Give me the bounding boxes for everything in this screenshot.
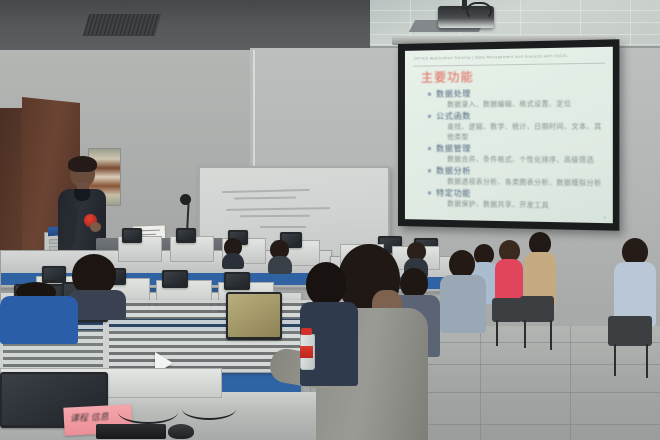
presenter-collar bbox=[74, 189, 90, 201]
lab-monitor bbox=[42, 266, 66, 283]
desk-cable bbox=[182, 398, 236, 420]
lab-monitor bbox=[176, 228, 196, 243]
bullet-heading: 数据管理 bbox=[427, 143, 604, 155]
attendee bbox=[524, 232, 556, 306]
attendee bbox=[0, 282, 72, 342]
classroom-photo: OFFICE Application Training | Data Manag… bbox=[0, 0, 660, 440]
bullet-subtext: 数据录入、数据编辑、格式设置、定位 bbox=[427, 98, 604, 110]
bullet-heading: 公式函数 bbox=[427, 110, 604, 122]
slide-page-number: 6 bbox=[604, 216, 606, 220]
foreground-monitor-lit bbox=[226, 292, 282, 340]
water-bottle-cap bbox=[301, 328, 312, 335]
attendee bbox=[440, 250, 484, 330]
slide-bullet-item: 特定功能 数据保护、数据共享、开发工具 bbox=[427, 187, 604, 211]
bullet-subtext: 数据合并、条件格式、个性化排序、高级筛选 bbox=[427, 154, 604, 165]
slide-bullet-item: 数据处理 数据录入、数据编辑、格式设置、定位 bbox=[427, 87, 604, 110]
bullet-subtext: 数据透视表分析、各类图表分析、数据模拟分析 bbox=[427, 176, 604, 188]
water-bottle-label bbox=[300, 346, 313, 358]
slide-title: 主要功能 bbox=[421, 68, 474, 86]
lab-monitor bbox=[162, 270, 188, 288]
presenter-hand bbox=[90, 222, 101, 232]
pink-card-text: 课程 信息 bbox=[70, 409, 110, 424]
attendee bbox=[222, 238, 244, 264]
lab-monitor bbox=[224, 272, 250, 290]
slide-bullet-item: 数据分析 数据透视表分析、各类图表分析、数据模拟分析 bbox=[427, 165, 604, 188]
bullet-subtext: 数据保护、数据共享、开发工具 bbox=[427, 198, 604, 211]
presenter-hair bbox=[68, 156, 97, 172]
slide-bullet-item: 数据管理 数据合并、条件格式、个性化排序、高级筛选 bbox=[427, 143, 604, 165]
projector-cable bbox=[466, 2, 492, 20]
chair bbox=[608, 316, 652, 346]
chair bbox=[520, 296, 554, 322]
computer-keyboard bbox=[96, 424, 166, 439]
slide-bullet-item: 公式函数 查找、逻辑、数学、统计、日期时间、文本、其他类型 bbox=[427, 110, 604, 143]
lab-monitor bbox=[122, 228, 142, 243]
projection-screen: OFFICE Application Training | Data Manag… bbox=[398, 39, 619, 231]
attendee bbox=[495, 240, 523, 304]
computer-mouse bbox=[168, 424, 194, 439]
attendee bbox=[268, 240, 292, 268]
presentation-slide: OFFICE Application Training | Data Manag… bbox=[405, 47, 613, 224]
podium-microphone bbox=[180, 194, 191, 205]
ceiling-air-vent bbox=[83, 14, 161, 36]
chair bbox=[492, 298, 522, 322]
desk-cable bbox=[118, 400, 178, 424]
attendee bbox=[614, 238, 654, 326]
bullet-subtext: 查找、逻辑、数学、统计、日期时间、文本、其他类型 bbox=[427, 121, 604, 142]
slide-bullet-list: 数据处理 数据录入、数据编辑、格式设置、定位 公式函数 查找、逻辑、数学、统计、… bbox=[427, 87, 604, 213]
